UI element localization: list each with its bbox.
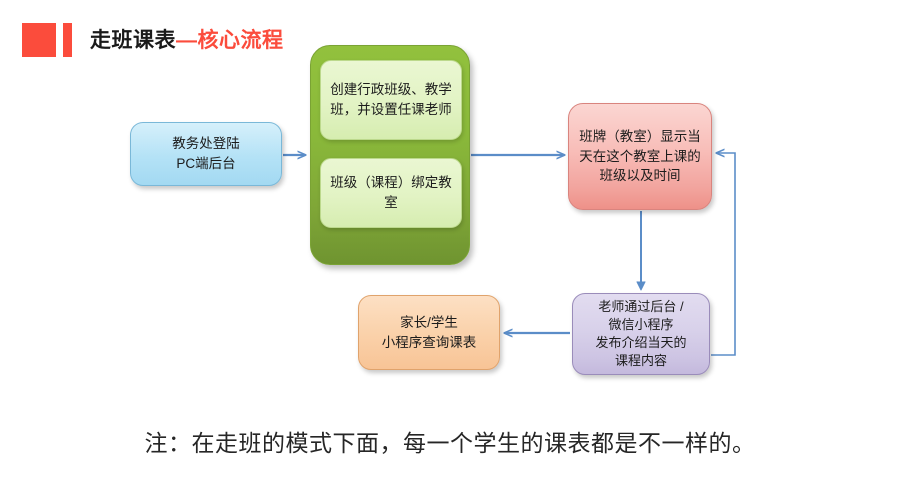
- flow-node-green-bind-classroom[interactable]: 班级（课程）绑定教室: [320, 158, 462, 228]
- flow-node-orange[interactable]: 家长/学生 小程序查询课表: [358, 295, 500, 370]
- title-text-group: 走班课表—核心流程: [90, 30, 284, 51]
- connector-purple-to-pink-loop: [711, 153, 735, 355]
- flow-node-green-create-classes-label: 创建行政班级、教学班，并设置任课老师: [329, 80, 453, 121]
- flow-node-orange-line2: 小程序查询课表: [382, 335, 477, 350]
- flow-node-green-create-classes[interactable]: 创建行政班级、教学班，并设置任课老师: [320, 60, 462, 140]
- flow-node-purple-label: 老师通过后台 / 微信小程序 发布介绍当天的 课程内容: [583, 298, 699, 370]
- flow-node-purple-line4: 课程内容: [615, 353, 667, 368]
- flow-node-purple-line3: 发布介绍当天的: [595, 335, 686, 350]
- title-main-text: 走班课表: [90, 29, 176, 52]
- flow-node-orange-label: 家长/学生 小程序查询课表: [369, 313, 489, 352]
- slide-canvas: 走班课表—核心流程: [0, 0, 900, 504]
- flow-node-pink-label: 班牌（教室）显示当天在这个教室上课的班级以及时间: [579, 127, 701, 186]
- flow-node-purple-line1: 老师通过后台 /: [598, 299, 683, 314]
- title-accent-square: [22, 23, 56, 57]
- flow-node-purple[interactable]: 老师通过后台 / 微信小程序 发布介绍当天的 课程内容: [572, 293, 710, 375]
- flow-node-blue-line1: 教务处登陆: [172, 136, 240, 151]
- title-accent-text: —核心流程: [176, 29, 284, 52]
- flow-node-green-bind-classroom-label: 班级（课程）绑定教室: [329, 173, 453, 214]
- flow-node-blue-label: 教务处登陆 PC端后台: [141, 134, 271, 173]
- flow-group-green[interactable]: 创建行政班级、教学班，并设置任课老师 班级（课程）绑定教室: [310, 45, 470, 265]
- title-accent-bar: [63, 23, 72, 57]
- flow-node-pink[interactable]: 班牌（教室）显示当天在这个教室上课的班级以及时间: [568, 103, 712, 210]
- flow-node-blue[interactable]: 教务处登陆 PC端后台: [130, 122, 282, 186]
- flow-node-blue-line2: PC端后台: [176, 156, 235, 171]
- flow-node-orange-line1: 家长/学生: [400, 315, 458, 330]
- footnote: 注：在走班的模式下面，每一个学生的课表都是不一样的。: [0, 424, 900, 458]
- flow-node-purple-line2: 微信小程序: [608, 317, 673, 332]
- page-title: 走班课表—核心流程: [22, 20, 284, 60]
